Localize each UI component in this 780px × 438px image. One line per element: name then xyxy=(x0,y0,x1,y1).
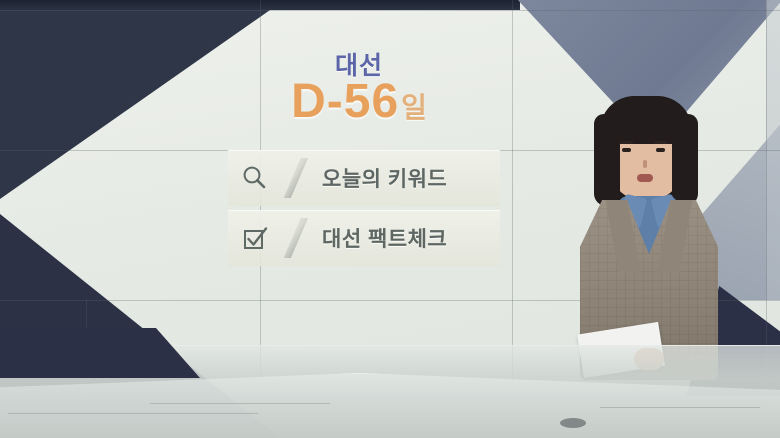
segment-item-label: 오늘의 키워드 xyxy=(308,163,500,193)
countdown-unit: 일 xyxy=(401,92,427,123)
magnifier-icon xyxy=(228,150,282,206)
countdown-display: D-56일 xyxy=(206,78,512,126)
anchor-eyebrow-left xyxy=(620,141,633,144)
anchor-nose xyxy=(643,160,647,168)
segment-item-keyword[interactable]: 오늘의 키워드 xyxy=(228,150,500,206)
news-desk xyxy=(0,345,780,438)
desk-reflection-line-1 xyxy=(8,413,258,414)
anchor-eye-left xyxy=(622,148,631,152)
wall-seam-horizontal-1 xyxy=(0,10,780,11)
segment-item-label: 대선 팩트체크 xyxy=(308,223,500,253)
anchor-hair-right xyxy=(672,114,698,206)
anchor-mouth xyxy=(637,174,653,182)
desk-microphone-base xyxy=(560,418,586,428)
segment-slash-divider xyxy=(282,218,308,258)
segment-slash-divider xyxy=(282,158,308,198)
program-graphic: 대선 D-56일 오늘의 키워드 xyxy=(206,16,512,272)
desk-reflection-line-2 xyxy=(150,403,330,404)
checkbox-check-icon xyxy=(228,210,282,266)
desk-reflection-line-3 xyxy=(600,407,760,408)
segment-menu: 오늘의 키워드 대선 팩트체크 xyxy=(228,150,500,270)
anchor-hair-left xyxy=(594,114,620,206)
desk-glass-top xyxy=(0,373,780,438)
anchor-eye-right xyxy=(656,148,665,152)
broadcast-frame: 대선 D-56일 오늘의 키워드 xyxy=(0,0,780,438)
segment-item-factcheck[interactable]: 대선 팩트체크 xyxy=(228,210,500,266)
anchor-eyebrow-right xyxy=(654,141,667,144)
countdown-value: D-56 xyxy=(291,75,399,128)
